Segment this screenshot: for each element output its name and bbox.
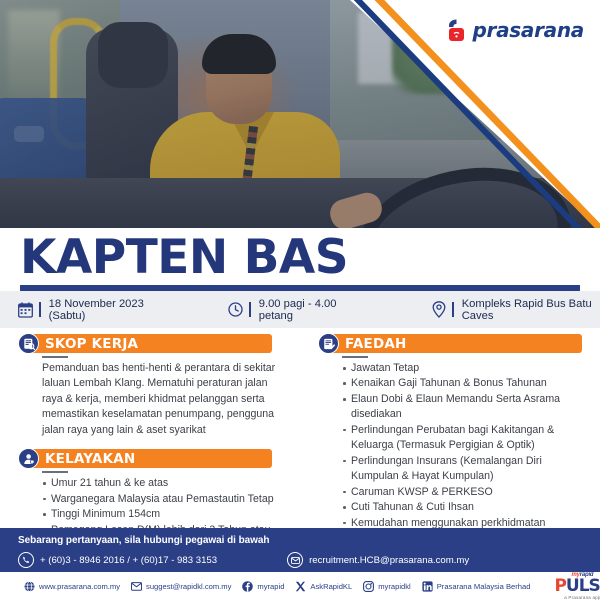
footer-contact-row: + (60)3 - 8946 2016 / + (60)17 - 983 315…: [0, 552, 600, 568]
social-link-prasarana-malaysia-berhad[interactable]: Prasarana Malaysia Berhad: [422, 581, 531, 592]
social-label: AskRapidKL: [310, 582, 352, 591]
event-location: Kompleks Rapid Bus Batu Caves: [462, 298, 600, 322]
social-link-myrapid[interactable]: myrapid: [242, 581, 284, 592]
hero-photo-bus-driver: prasarana: [0, 0, 600, 228]
info-divider: [452, 302, 454, 317]
pulse-letters-rest: ULSE: [566, 576, 600, 596]
section-title: SKOP KERJA: [45, 336, 138, 352]
social-media-bar: www.prasarana.com.mysuggest@rapidkl.com.…: [0, 572, 600, 600]
globe-icon: [24, 581, 35, 592]
pulse-logo: myrapid PULSE a Prasarana app: [554, 572, 600, 600]
list-item: Kenaikan Gaji Tahunan & Bonus Tahunan: [342, 376, 586, 391]
email-address: recruitment.HCB@prasarana.com.my: [309, 555, 469, 566]
social-link-myrapidkl[interactable]: myrapidkl: [363, 581, 411, 592]
contact-email[interactable]: recruitment.HCB@prasarana.com.my: [287, 552, 469, 568]
social-items: www.prasarana.com.mysuggest@rapidkl.com.…: [24, 581, 530, 592]
info-item-location: Kompleks Rapid Bus Batu Caves: [432, 298, 600, 322]
x-twitter-icon: [295, 581, 306, 592]
pulse-wordmark: PULSE: [554, 578, 600, 595]
pulse-letter-p: P: [554, 576, 565, 596]
info-divider: [39, 302, 41, 317]
section-title: FAEDAH: [345, 336, 407, 352]
clock-icon: [228, 302, 243, 317]
calendar-icon: [18, 302, 33, 318]
section-gap: [18, 438, 276, 449]
section-underline: [42, 356, 68, 358]
section-header-faedah: FAEDAH: [318, 334, 586, 353]
phone-number: + (60)3 - 8946 2016 / + (60)17 - 983 315…: [40, 555, 217, 566]
social-link-www-prasarana-com-my[interactable]: www.prasarana.com.my: [24, 581, 120, 592]
instagram-icon: [363, 581, 374, 592]
section-header-kelayakan: KELAYAKAN: [18, 449, 276, 468]
job-scope-icon: [18, 333, 39, 354]
social-label: myrapidkl: [378, 582, 411, 591]
skop-kerja-paragraph: Pemanduan bas henti-henti & perantara di…: [42, 361, 276, 438]
info-item-time: 9.00 pagi - 4.00 petang: [228, 298, 354, 322]
list-item: Perlindungan Perubatan bagi Kakitangan &…: [342, 423, 586, 454]
info-divider: [249, 302, 251, 317]
contact-footer: Sebarang pertanyaan, sila hubungi pegawa…: [0, 528, 600, 572]
envelope-icon: [287, 552, 303, 568]
content-area: SKOP KERJA Pemanduan bas henti-henti & p…: [0, 330, 600, 525]
contact-phone[interactable]: + (60)3 - 8946 2016 / + (60)17 - 983 315…: [18, 552, 217, 568]
envelope-icon: [131, 581, 142, 592]
list-item: Jawatan Tetap: [342, 361, 586, 376]
list-item: Cuti Tahunan & Cuti Ihsan: [342, 500, 586, 515]
section-title: KELAYAKAN: [45, 451, 135, 467]
social-label: myrapid: [257, 582, 284, 591]
list-item: Elaun Dobi & Elaun Memandu Serta Asrama …: [342, 392, 586, 423]
phone-icon: [18, 552, 34, 568]
list-item: Caruman KWSP & PERKESO: [342, 485, 586, 500]
social-link-askrapidkl[interactable]: AskRapidKL: [295, 581, 352, 592]
section-header-skop-kerja: SKOP KERJA: [18, 334, 276, 353]
linkedin-icon: [422, 581, 433, 592]
list-item: Umur 21 tahun & ke atas: [42, 476, 276, 491]
location-pin-icon: [432, 301, 446, 318]
facebook-icon: [242, 581, 253, 592]
recruitment-poster: prasarana KAPTEN BAS Adakah anda yang ka…: [0, 0, 600, 600]
benefits-checklist-icon: [318, 333, 339, 354]
event-date: 18 November 2023 (Sabtu): [49, 298, 161, 322]
page-title: KAPTEN BAS: [0, 228, 600, 282]
event-time: 9.00 pagi - 4.00 petang: [259, 298, 354, 322]
prasarana-logo-text: prasarana: [473, 18, 584, 42]
info-item-date: 18 November 2023 (Sabtu): [18, 298, 161, 322]
social-link-suggest-rapidkl-com-my[interactable]: suggest@rapidkl.com.my: [131, 581, 231, 592]
event-info-bar: 18 November 2023 (Sabtu) 9.00 pagi - 4.0…: [0, 291, 600, 328]
list-item: Tinggi Minimum 154cm: [42, 507, 276, 522]
footer-heading: Sebarang pertanyaan, sila hubungi pegawa…: [0, 528, 600, 546]
social-label: Prasarana Malaysia Berhad: [437, 582, 531, 591]
section-underline: [342, 356, 368, 358]
list-item: Warganegara Malaysia atau Pemastautin Te…: [42, 492, 276, 507]
social-label: suggest@rapidkl.com.my: [146, 582, 231, 591]
section-underline: [42, 471, 68, 473]
prasarana-shield-icon: [446, 18, 468, 42]
list-item: Perlindungan Insurans (Kemalangan Diri K…: [342, 454, 586, 485]
social-label: www.prasarana.com.my: [39, 582, 120, 591]
prasarana-logo: prasarana: [446, 18, 584, 42]
